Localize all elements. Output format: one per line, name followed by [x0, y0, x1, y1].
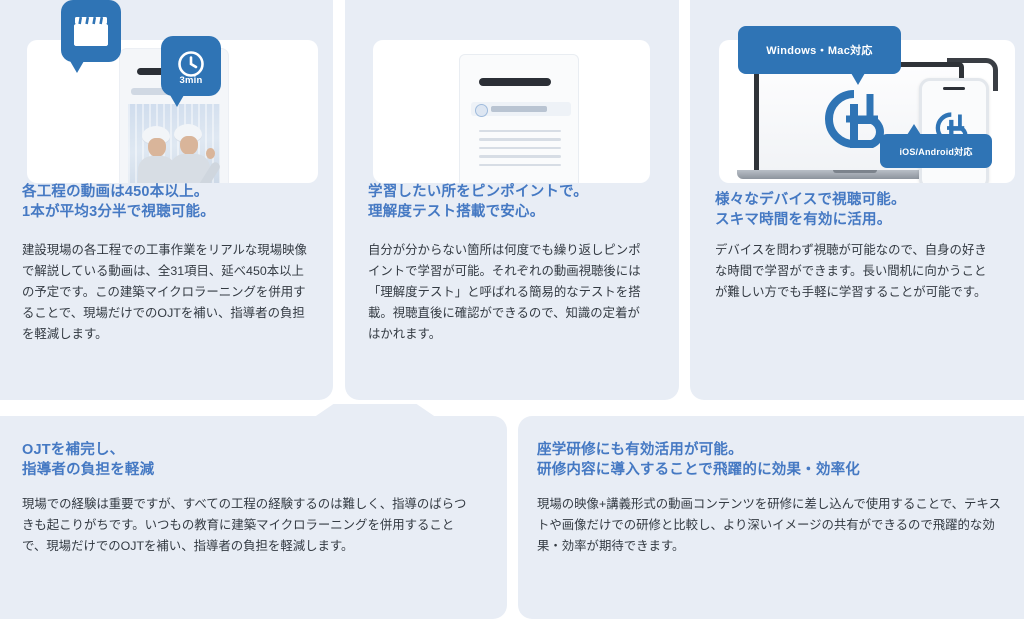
card-body: 自分が分からない箇所は何度でも繰り返しピンポイントで学習が可能。それぞれの動画視… — [368, 240, 651, 345]
badge-windows-mac-label: Windows・Mac対応 — [766, 42, 872, 58]
card-heading: 各工程の動画は450本以上。 1本が平均3分半で視聴可能。 — [22, 182, 302, 222]
question-row — [471, 102, 571, 116]
film-clapperboard-icon — [74, 16, 108, 46]
duration-label: 3min — [180, 75, 203, 86]
phone-speaker — [943, 87, 965, 90]
card-heading: 学習したい所をピンポイントで。 理解度テスト搭載で安心。 — [368, 182, 653, 222]
question-label-placeholder — [491, 106, 547, 112]
badge-ios-android-label: iOS/Android対応 — [899, 145, 972, 158]
construction-site-photo — [128, 104, 220, 183]
badge-ios-android: iOS/Android対応 — [880, 134, 992, 168]
card-body: 現場での経験は重要ですが、すべての工程の経験するのは難しく、指導のばらつきも起こ… — [22, 494, 478, 557]
card-heading: OJTを補完し、 指導者の負担を軽減 — [22, 440, 462, 480]
badge-film-clapperboard — [61, 0, 121, 62]
card-heading: 座学研修にも有効活用が可能。 研修内容に導入することで飛躍的に効果・効率化 — [537, 440, 1007, 480]
test-document-mockup — [459, 54, 579, 183]
clock-icon — [177, 50, 205, 78]
feature-cards-section: 3min 各工程の動画は450本以上。 1本が平均3分半で視聴可能。 建設現場の… — [0, 0, 1024, 603]
feature-card-pinpoint-learning: 学習したい所をピンポイントで。 理解度テスト搭載で安心。 自分が分からない箇所は… — [345, 0, 679, 400]
badge-windows-mac: Windows・Mac対応 — [738, 26, 901, 74]
card-body: デバイスを問わず視聴が可能なので、自身の好きな時間で学習ができます。長い間机に向… — [715, 240, 995, 303]
laptop-trackpad-notch — [833, 170, 877, 173]
document-text-lines — [479, 130, 561, 172]
feature-card-video-volume: 3min 各工程の動画は450本以上。 1本が平均3分半で視聴可能。 建設現場の… — [0, 0, 333, 400]
badge-duration-3min: 3min — [161, 36, 221, 96]
document-header-bar — [479, 78, 551, 86]
feature-card-classroom-training: 座学研修にも有効活用が可能。 研修内容に導入することで飛躍的に効果・効率化 現場… — [518, 416, 1024, 619]
question-marker-icon — [475, 104, 488, 117]
card-body: 現場の映像+講義形式の動画コンテンツを研修に差し込んで使用することで、テキストや… — [537, 494, 1007, 557]
card-body: 建設現場の各工程での工事作業をリアルな現場映像で解説している動画は、全31項目、… — [22, 240, 307, 345]
feature-card-ojt-support: OJTを補完し、 指導者の負担を軽減 現場での経験は重要ですが、すべての工程の経… — [0, 416, 507, 619]
illustration-frame-test — [373, 40, 650, 183]
card-heading: 様々なデバイスで視聴可能。 スキマ時間を有効に活用。 — [715, 190, 1005, 230]
